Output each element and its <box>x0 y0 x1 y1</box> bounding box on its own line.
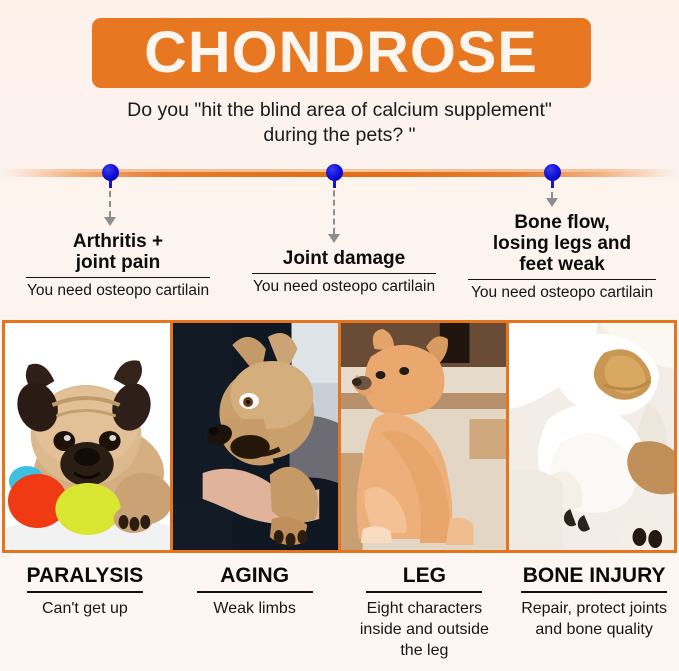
timeline-stage-title-line: feet weak <box>468 254 656 275</box>
caption-2: AGINGWeak limbs <box>170 563 340 671</box>
caption-subtitle-line: Repair, protect joints <box>515 598 673 619</box>
timeline-stage-rule-1 <box>26 277 210 278</box>
subtitle: Do you "hit the blind area of calcium su… <box>0 98 679 148</box>
page-title: CHONDROSE <box>145 24 539 82</box>
caption-subtitle-line: and bone quality <box>515 619 673 640</box>
caption-subtitle-line: Eight characters <box>346 598 504 619</box>
timeline-stage-subtitle-1: You need osteopo cartilain <box>26 281 210 300</box>
caption-rule-1 <box>27 591 143 593</box>
caption-subtitle-1: Can't get up <box>6 598 164 619</box>
timeline-stage-subtitle-3: You need osteopo cartilain <box>468 283 656 302</box>
timeline-arrow-1 <box>104 217 116 226</box>
vet-bandage-illustration <box>509 323 674 550</box>
caption-title-1: PARALYSIS <box>27 563 144 588</box>
timeline-dot-3[interactable] <box>544 164 561 181</box>
caption-subtitle-4: Repair, protect jointsand bone quality <box>515 598 673 640</box>
caption-subtitle-line: inside and outside <box>346 619 504 640</box>
timeline-stage-title-line: losing legs and <box>468 233 656 254</box>
caption-title-3: LEG <box>403 563 446 588</box>
timeline-stage-3: Bone flow,losing legs andfeet weakYou ne… <box>468 212 656 302</box>
dog-in-arms-illustration <box>173 323 338 550</box>
timeline-stage-rule-3 <box>468 279 656 280</box>
timeline-stage-title-line: Arthritis + <box>26 231 210 252</box>
caption-row: PARALYSISCan't get upAGINGWeak limbsLEGE… <box>0 563 679 671</box>
subtitle-line-1: Do you "hit the blind area of calcium su… <box>0 98 679 123</box>
subtitle-line-2: during the pets? " <box>0 123 679 148</box>
timeline-arrow-3 <box>546 198 558 207</box>
caption-subtitle-line: the leg <box>346 640 504 661</box>
brand-banner: CHONDROSE <box>92 18 591 88</box>
caption-3: LEGEight charactersinside and outsidethe… <box>340 563 510 671</box>
timeline-stage-title-line: joint pain <box>26 252 210 273</box>
caption-4: BONE INJURYRepair, protect jointsand bon… <box>509 563 679 671</box>
timeline-arrow-2 <box>328 234 340 243</box>
photo-vet-wrapping-dog-paw[interactable] <box>509 323 674 550</box>
infographic-root: CHONDROSE Do you "hit the blind area of … <box>0 0 679 671</box>
caption-subtitle-2: Weak limbs <box>176 598 334 619</box>
timeline-stage-title-3: Bone flow,losing legs andfeet weak <box>468 212 656 275</box>
timeline-dot-1[interactable] <box>102 164 119 181</box>
caption-subtitle-line: Weak limbs <box>176 598 334 619</box>
caption-title-4: BONE INJURY <box>523 563 666 588</box>
caption-subtitle-line: Can't get up <box>6 598 164 619</box>
timeline-stage-title-2: Joint damage <box>252 248 436 269</box>
timeline-stage-title-line: Joint damage <box>252 248 436 269</box>
timeline-dot-2[interactable] <box>326 164 343 181</box>
caption-subtitle-3: Eight charactersinside and outsidethe le… <box>346 598 504 661</box>
photo-small-dog-sitting[interactable] <box>341 323 506 550</box>
timeline-stage-title-line: Bone flow, <box>468 212 656 233</box>
timeline-stage-rule-2 <box>252 273 436 274</box>
caption-title-2: AGING <box>220 563 289 588</box>
caption-1: PARALYSISCan't get up <box>0 563 170 671</box>
small-dog-illustration <box>341 323 506 550</box>
timeline-stage-1: Arthritis +joint painYou need osteopo ca… <box>26 231 210 300</box>
caption-rule-4 <box>521 591 667 593</box>
timeline-stage-2: Joint damageYou need osteopo cartilain <box>252 248 436 296</box>
photo-strip <box>2 320 677 553</box>
pug-illustration <box>5 323 170 550</box>
caption-rule-2 <box>197 591 313 593</box>
timeline-stage-subtitle-2: You need osteopo cartilain <box>252 277 436 296</box>
timeline-stage-title-1: Arthritis +joint pain <box>26 231 210 273</box>
photo-dog-held-in-arms[interactable] <box>173 323 338 550</box>
caption-rule-3 <box>366 591 482 593</box>
timeline-connector-2 <box>333 181 335 234</box>
photo-pug-lying-with-toys[interactable] <box>5 323 170 550</box>
